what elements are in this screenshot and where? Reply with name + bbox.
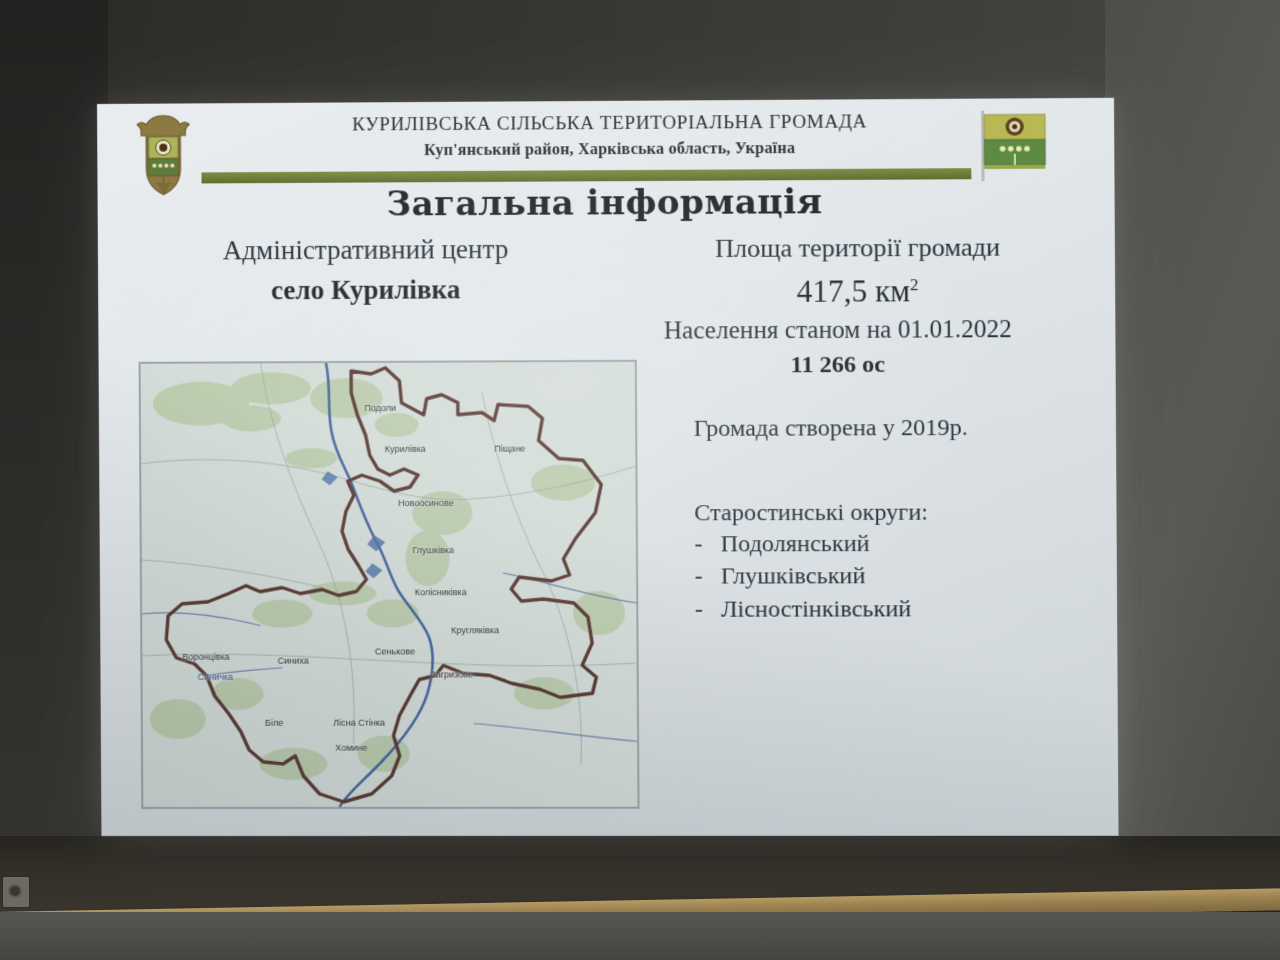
organization-title: КУРИЛІВСЬКА СІЛЬСЬКА ТЕРИТОРІАЛЬНА ГРОМА…: [247, 111, 973, 137]
map-settlement-label: Біле: [265, 718, 283, 728]
map-settlement-label: Глушківка: [412, 545, 453, 555]
map-settlement-label: Синиха: [278, 656, 309, 666]
map-settlement-label: Новоосинове: [398, 498, 454, 508]
district-label: Лісностінківський: [721, 596, 911, 623]
district-item: -Глушківський: [695, 562, 1100, 595]
population-label: Населення станом на 01.01.2022: [570, 316, 1106, 346]
map-settlement-label: Сенькове: [375, 646, 415, 656]
map-settlement-label: Лісна Стінка: [333, 718, 385, 728]
map-graphic: [141, 362, 638, 807]
community-created-text: Громада створена у 2019р.: [694, 413, 998, 444]
district-item: -Подолянський: [694, 529, 1099, 563]
map-settlement-label: Воронцівка: [182, 652, 229, 662]
community-boundary-map: ПодолиКурилівкаПіщанеНовоосиновеГлушківк…: [139, 360, 640, 809]
coat-of-arms-icon: [133, 112, 194, 196]
area-exponent: 2: [910, 275, 919, 294]
room-floor: [0, 912, 1280, 960]
community-flag-icon: [976, 108, 1052, 183]
districts-list: -Подолянський-Глушківський-Лісностінківс…: [694, 529, 1100, 627]
area-number: 417,5 км: [796, 273, 910, 309]
population-value: 11 266 ос: [570, 351, 1106, 380]
district-label: Глушківський: [721, 563, 866, 589]
districts-heading: Старостинські округи:: [694, 499, 1079, 527]
map-settlement-label: Загризове: [430, 669, 473, 679]
map-settlement-label: Курилівка: [385, 444, 426, 454]
map-water-label: Синичка: [198, 672, 233, 682]
district-label: Подолянський: [721, 531, 870, 558]
map-settlement-label: Кругляківка: [451, 625, 499, 635]
district-item: -Лісностінківський: [695, 594, 1100, 627]
power-outlet: [2, 876, 30, 908]
admin-center-label: Адміністративний центр: [110, 233, 622, 267]
map-settlement-label: Піщане: [494, 444, 525, 454]
map-settlement-label: Подоли: [364, 403, 396, 413]
photo-of-projected-slide: КУРИЛІВСЬКА СІЛЬСЬКА ТЕРИТОРІАЛЬНА ГРОМА…: [0, 0, 1280, 960]
organization-subtitle: Куп'янський район, Харківська область, У…: [247, 139, 973, 161]
district-bullet: -: [695, 595, 721, 624]
admin-center-value: село Курилівка: [110, 274, 622, 307]
district-bullet: -: [695, 563, 721, 592]
district-bullet: -: [694, 530, 720, 559]
room-wall-left-shadow: [0, 0, 108, 838]
area-label: Площа території громади: [620, 232, 1096, 265]
area-value: 417,5 км2: [620, 272, 1096, 310]
room-wall-right: [1105, 0, 1280, 845]
presentation-slide: КУРИЛІВСЬКА СІЛЬСЬКА ТЕРИТОРІАЛЬНА ГРОМА…: [97, 98, 1119, 836]
slide-title: Загальна інформація: [98, 180, 1115, 226]
map-settlement-label: Колісниківка: [415, 587, 467, 597]
map-settlement-label: Хомине: [335, 743, 367, 753]
